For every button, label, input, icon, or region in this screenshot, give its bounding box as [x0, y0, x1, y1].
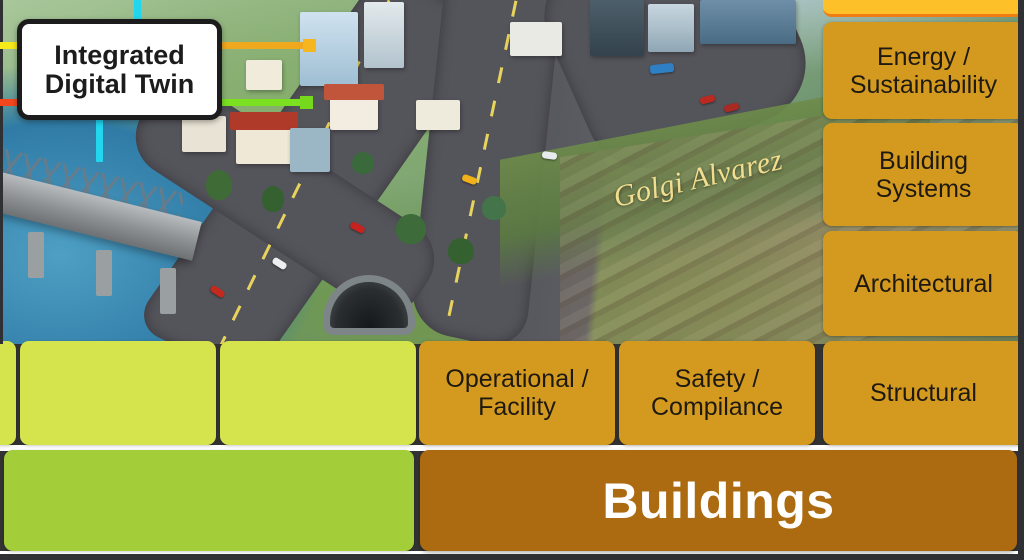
connector-green-endpoint — [300, 96, 313, 109]
connector-orange-endpoint — [303, 39, 316, 52]
integrated-digital-twin-callout[interactable]: Integrated Digital Twin — [17, 19, 222, 120]
building-house-1 — [236, 126, 292, 164]
building-tower-5 — [700, 0, 796, 44]
tree-5 — [482, 196, 506, 220]
right-frame-edge — [1018, 0, 1024, 560]
tree-4 — [448, 238, 474, 264]
green-block-a[interactable] — [0, 341, 16, 445]
building-tower-3 — [590, 0, 644, 56]
box-architectural-label: Architectural — [854, 270, 993, 298]
box-structural[interactable]: Structural — [823, 341, 1024, 445]
building-house-6 — [246, 60, 282, 90]
box-building-systems-label: Building Systems — [876, 147, 972, 203]
building-tower-2 — [364, 2, 404, 68]
tree-7 — [352, 152, 374, 174]
box-energy-label: Energy / Sustainability — [850, 43, 997, 99]
tree-2 — [262, 186, 284, 212]
orange-top-strip[interactable] — [823, 0, 1024, 17]
building-house-2 — [330, 96, 378, 130]
buildings-label: Buildings — [602, 472, 834, 530]
box-operational-facility[interactable]: Operational / Facility — [419, 341, 615, 445]
box-architectural[interactable]: Architectural — [823, 231, 1024, 336]
bottom-frame-edge — [0, 554, 1024, 560]
box-energy-sustainability[interactable]: Energy / Sustainability — [823, 22, 1024, 119]
building-house-5 — [416, 100, 460, 130]
building-tower-4 — [648, 4, 694, 52]
roof-1 — [230, 112, 298, 130]
building-house-4 — [182, 116, 226, 152]
left-frame-edge — [0, 0, 3, 344]
green-block-b[interactable] — [20, 341, 216, 445]
green-block-c[interactable] — [220, 341, 416, 445]
tree-3 — [396, 214, 426, 244]
building-house-7 — [510, 22, 562, 56]
box-safety-compilance[interactable]: Safety / Compilance — [619, 341, 815, 445]
box-safety-compilance-label: Safety / Compilance — [651, 365, 783, 421]
slide-canvas: Golgi Alvarez Integrated Digital Twin En… — [0, 0, 1024, 560]
roof-2 — [324, 84, 384, 100]
buildings-bar[interactable]: Buildings — [420, 450, 1017, 551]
bridge-pier-2 — [96, 250, 112, 296]
building-house-3 — [290, 128, 330, 172]
callout-label: Integrated Digital Twin — [45, 41, 195, 98]
bridge-pier-3 — [160, 268, 176, 314]
box-operational-facility-label: Operational / Facility — [445, 365, 588, 421]
box-building-systems[interactable]: Building Systems — [823, 123, 1024, 226]
tree-1 — [206, 170, 232, 200]
bridge-pier-1 — [28, 232, 44, 278]
box-structural-label: Structural — [870, 379, 977, 407]
green-wide-bar[interactable] — [4, 450, 414, 551]
